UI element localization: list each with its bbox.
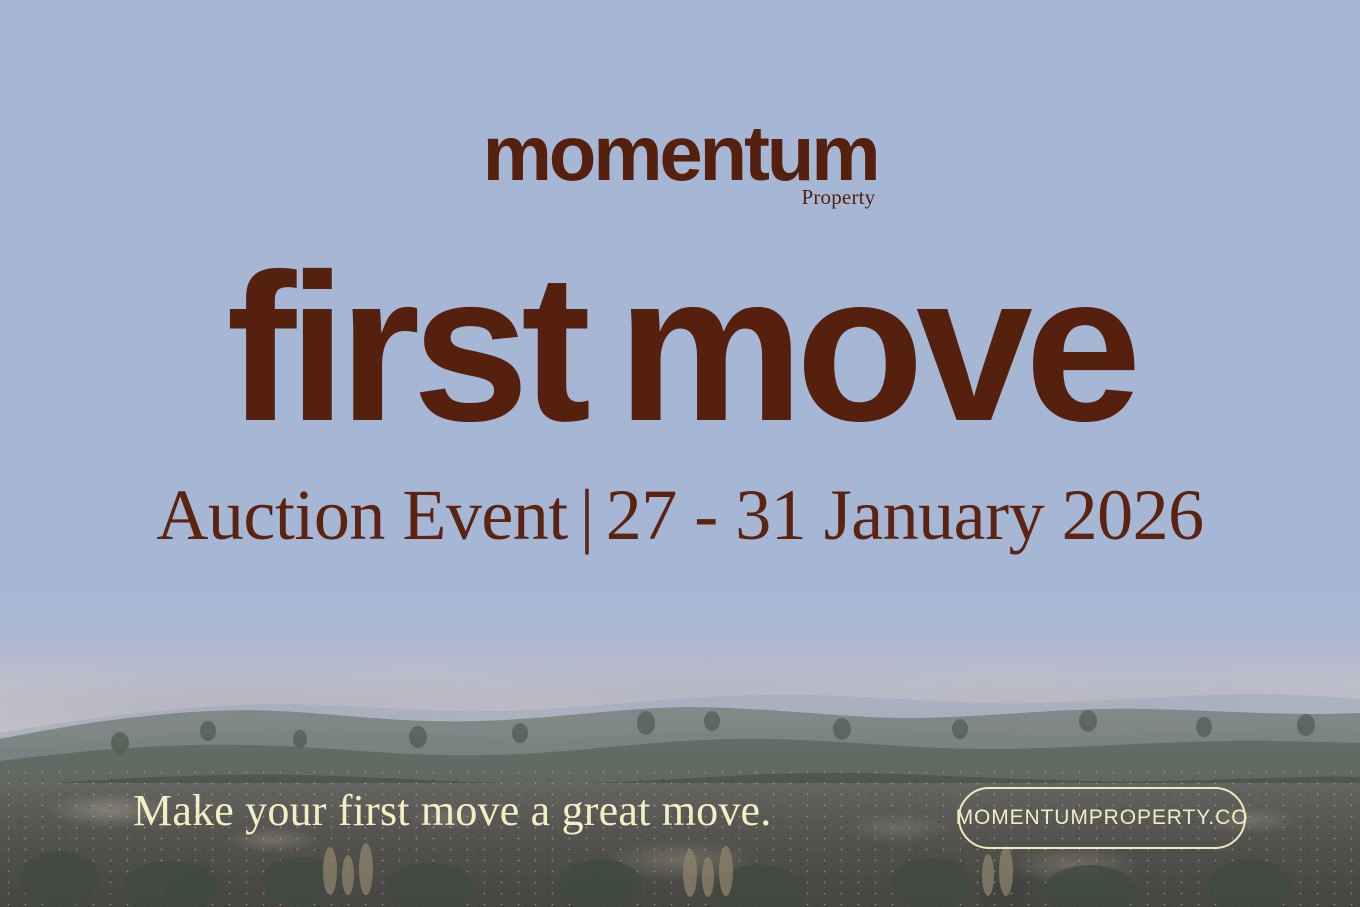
headline-word-first: first [226,230,583,465]
brand-wordmark: momentum Property [483,118,878,188]
tagline: Make your first move a great move. [133,787,771,835]
event-dates: 27 - 31 January 2026 [606,475,1204,555]
page-title: firstmove [0,258,1360,439]
website-url-label: MOMENTUMPROPERTY.CO [956,806,1249,830]
brand-name-text: momentum [483,109,878,197]
landscape-photo [0,567,1360,907]
poster-canvas: momentum Property firstmove Auction Even… [0,0,1360,907]
headline-word-move: move [617,230,1134,465]
website-pill-button[interactable]: MOMENTUMPROPERTY.CO [958,787,1246,849]
event-divider: | [568,478,606,554]
brand-descriptor-text: Property [801,188,875,207]
event-subtitle: Auction Event|27 - 31 January 2026 [0,478,1360,554]
event-label: Auction Event [156,475,567,555]
brand-lockup: momentum Property [0,118,1360,188]
